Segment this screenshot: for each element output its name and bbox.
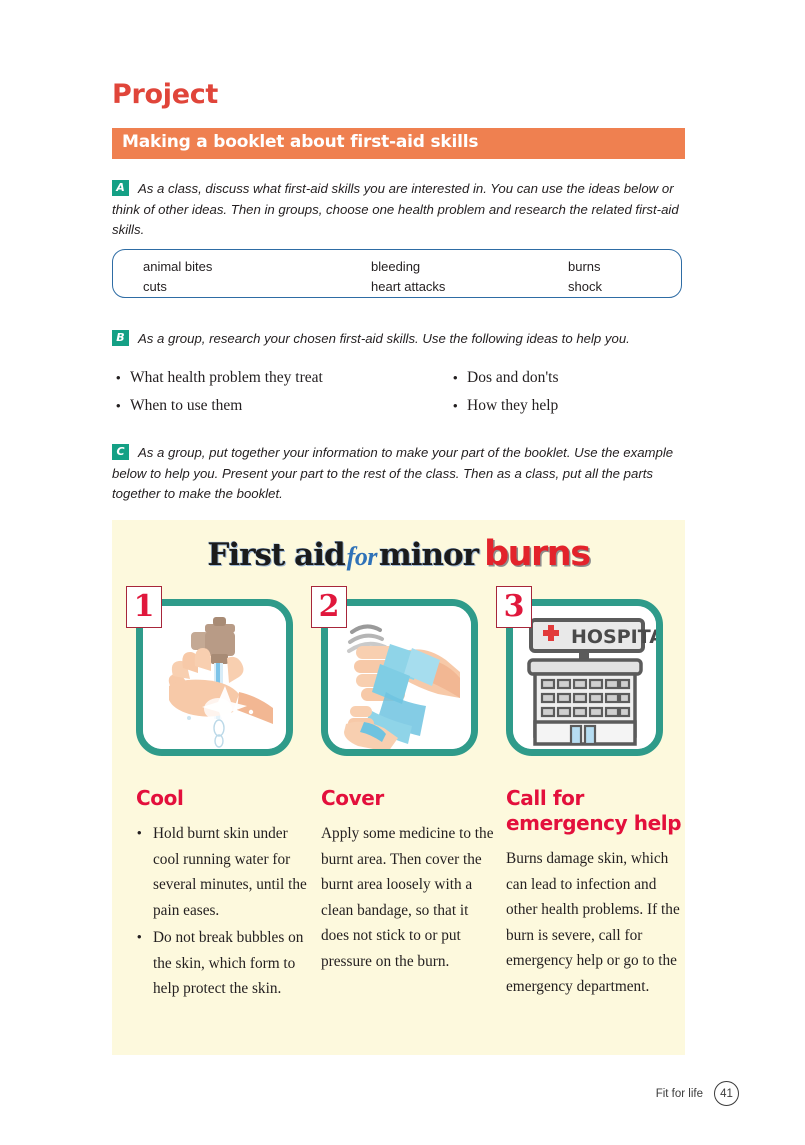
badge-a: A <box>112 180 129 196</box>
poster-heading-2: Cover <box>321 786 496 811</box>
ideas-column-3: burns shock <box>568 257 602 297</box>
b-bullets-right: •Dos and don'ts •How they help <box>453 364 559 420</box>
bullet-icon: • <box>453 392 467 420</box>
hand-wrapped-in-bandage-icon <box>328 606 471 749</box>
list-item-label: When to use them <box>130 397 242 414</box>
poster-heading-3: Call for emergency help <box>506 786 686 836</box>
poster-title-part2: for <box>345 542 379 571</box>
poster-title-part3: minor <box>379 537 478 573</box>
idea-item: shock <box>568 277 602 297</box>
list-item-label: What health problem they treat <box>130 369 323 386</box>
list-item: Hold burnt skin under cool running water… <box>136 821 311 923</box>
instruction-c: CAs a group, put together your informati… <box>112 443 682 505</box>
hospital-sign-text: HOSPITAL <box>571 626 656 648</box>
list-item-label: Dos and don'ts <box>467 369 559 386</box>
poster-column-1: Cool Hold burnt skin under cool running … <box>136 786 311 1004</box>
section-banner: Making a booklet about first-aid skills <box>112 128 685 159</box>
poster-title: First aidforminorburns <box>112 534 685 574</box>
list-item: Do not break bubbles on the skin, which … <box>136 925 311 1002</box>
poster-heading-1: Cool <box>136 786 311 811</box>
idea-item: animal bites <box>143 257 212 277</box>
panel-number-2: 2 <box>311 586 347 628</box>
poster-title-part4: burns <box>478 534 589 574</box>
panel-number-1: 1 <box>126 586 162 628</box>
list-item: •What health problem they treat <box>116 364 323 392</box>
badge-b: B <box>112 330 129 346</box>
poster-title-part1: First aid <box>207 537 344 573</box>
idea-item: burns <box>568 257 602 277</box>
poster-column-2: Cover Apply some medicine to the burnt a… <box>321 786 496 974</box>
instruction-a: AAs a class, discuss what first-aid skil… <box>112 179 682 241</box>
ideas-box: animal bites cuts bleeding heart attacks… <box>112 249 682 298</box>
ideas-column-2: bleeding heart attacks <box>371 257 445 297</box>
list-item: •When to use them <box>116 392 323 420</box>
page-footer: Fit for life 41 <box>656 1081 739 1106</box>
idea-item: bleeding <box>371 257 445 277</box>
bullet-icon: • <box>116 364 130 392</box>
page-title: Project <box>112 79 218 110</box>
instruction-a-text: As a class, discuss what first-aid skill… <box>112 181 679 237</box>
poster-body-2: Apply some medicine to the burnt area. T… <box>321 821 496 974</box>
panel-number-3: 3 <box>496 586 532 628</box>
hospital-building-icon: HOSPITAL <box>513 606 656 749</box>
bullet-icon: • <box>453 364 467 392</box>
badge-c: C <box>112 444 129 460</box>
poster-column-3: Call for emergency help Burns damage ski… <box>506 786 686 999</box>
bullet-icon: • <box>116 392 130 420</box>
section-banner-label: Making a booklet about first-aid skills <box>122 132 478 152</box>
instruction-b-text: As a group, research your chosen first-a… <box>138 331 630 346</box>
ideas-column-1: animal bites cuts <box>143 257 212 297</box>
poster-body-3: Burns damage skin, which can lead to inf… <box>506 846 686 999</box>
footer-unit-label: Fit for life <box>656 1088 703 1100</box>
b-bullets-left: •What health problem they treat •When to… <box>116 364 323 420</box>
poster-body-1: Hold burnt skin under cool running water… <box>136 821 311 1002</box>
list-item: •How they help <box>453 392 559 420</box>
hands-under-running-tap-icon <box>143 606 286 749</box>
textbook-page: Project Making a booklet about first-aid… <box>0 0 805 1145</box>
instruction-c-text: As a group, put together your informatio… <box>112 445 673 501</box>
list-item: •Dos and don'ts <box>453 364 559 392</box>
page-number: 41 <box>714 1081 739 1106</box>
idea-item: heart attacks <box>371 277 445 297</box>
instruction-b: BAs a group, research your chosen first-… <box>112 329 682 350</box>
list-item-label: How they help <box>467 397 558 414</box>
idea-item: cuts <box>143 277 212 297</box>
example-poster: First aidforminorburns <box>112 520 685 1055</box>
